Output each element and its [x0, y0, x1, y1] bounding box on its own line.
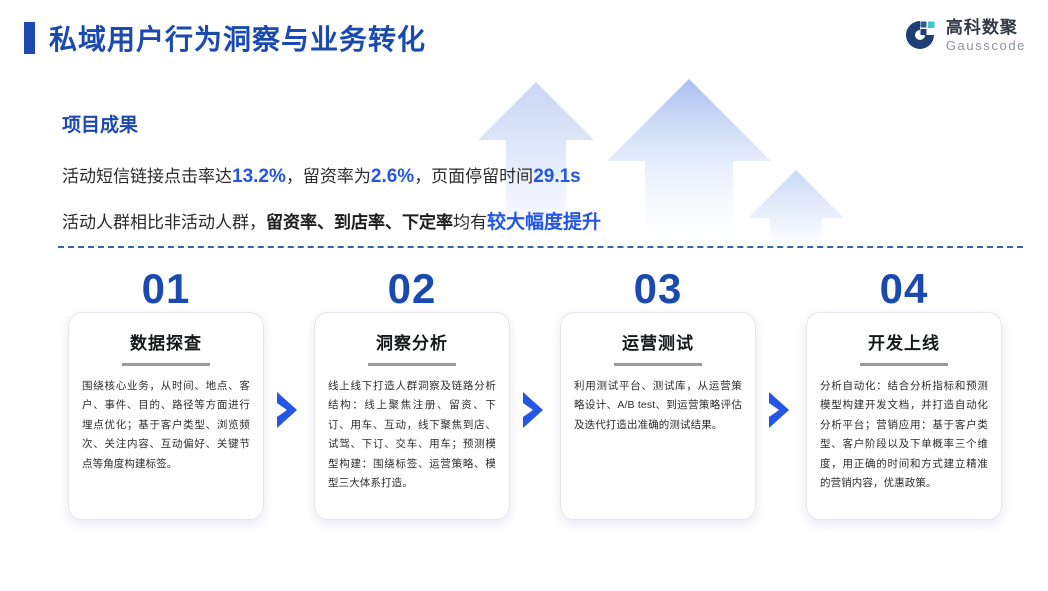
- step-number: 01: [68, 268, 264, 310]
- line1-metric-dwell: 29.1s: [533, 166, 581, 187]
- step-card-body[interactable]: 数据探查 围绕核心业务，从时间、地点、客户、事件、目的、路径等方面进行埋点优化；…: [68, 312, 264, 520]
- logo-text-en: Gausscode: [946, 39, 1026, 52]
- line1-metric-ctr: 13.2%: [232, 166, 286, 187]
- gausscode-logo-mark-icon: [903, 18, 937, 52]
- brand-logo: 高科数聚 Gausscode: [903, 18, 1026, 52]
- step-number: 04: [806, 268, 1002, 310]
- line1-text-2: ，留资率为: [286, 167, 371, 186]
- step-title: 开发上线: [820, 329, 988, 354]
- step-number: 03: [560, 268, 756, 310]
- line2-text-1: 活动人群相比非活动人群，: [62, 213, 266, 232]
- step-title-rule: [614, 363, 702, 366]
- step-card-01[interactable]: 01 数据探查 围绕核心业务，从时间、地点、客户、事件、目的、路径等方面进行埋点…: [68, 312, 264, 520]
- logo-text-cn: 高科数聚: [946, 19, 1026, 36]
- step-title: 运营测试: [574, 329, 742, 354]
- step-card-03[interactable]: 03 运营测试 利用测试平台、测试库，从运营策略设计、A/B test、到运营策…: [560, 312, 756, 520]
- step-title: 数据探查: [82, 329, 250, 354]
- dashed-divider: [58, 246, 1023, 248]
- step-chevron-arrow-2-icon: [520, 390, 546, 430]
- title-accent-bar: [24, 22, 35, 54]
- step-title-rule: [368, 363, 456, 366]
- step-title: 洞察分析: [328, 329, 496, 354]
- step-description: 围绕核心业务，从时间、地点、客户、事件、目的、路径等方面进行埋点优化；基于客户类…: [82, 377, 250, 474]
- step-chevron-arrow-1-icon: [274, 390, 300, 430]
- step-card-02[interactable]: 02 洞察分析 线上线下打造人群洞察及链路分析结构：线上聚焦注册、留资、下订、用…: [314, 312, 510, 520]
- page-title: 私域用户行为洞察与业务转化: [24, 18, 426, 58]
- step-card-body[interactable]: 洞察分析 线上线下打造人群洞察及链路分析结构：线上聚焦注册、留资、下订、用车、互…: [314, 312, 510, 520]
- line1-metric-leadrate: 2.6%: [371, 166, 414, 187]
- page-header: 私域用户行为洞察与业务转化 高科数聚 Gausscode: [0, 0, 1048, 80]
- step-description: 线上线下打造人群洞察及链路分析结构：线上聚焦注册、留资、下订、用车、互动，线下聚…: [328, 377, 496, 494]
- step-chevron-arrow-3-icon: [766, 390, 792, 430]
- page-title-text: 私域用户行为洞察与业务转化: [49, 18, 426, 58]
- line2-highlight: 较大幅度提升: [487, 212, 601, 233]
- results-line-2: 活动人群相比非活动人群，留资率、到店率、下定率均有较大幅度提升: [62, 205, 601, 241]
- process-steps: 01 数据探查 围绕核心业务，从时间、地点、客户、事件、目的、路径等方面进行埋点…: [0, 268, 1048, 528]
- step-description: 分析自动化：结合分析指标和预测模型构建开发文档，并打造自动化分析平台；营销应用：…: [820, 377, 988, 494]
- line2-bold-metrics: 留资率、到店率、下定率: [266, 213, 453, 232]
- step-card-body[interactable]: 开发上线 分析自动化：结合分析指标和预测模型构建开发文档，并打造自动化分析平台；…: [806, 312, 1002, 520]
- step-card-body[interactable]: 运营测试 利用测试平台、测试库，从运营策略设计、A/B test、到运营策略评估…: [560, 312, 756, 520]
- results-heading: 项目成果: [62, 110, 601, 137]
- step-title-rule: [860, 363, 948, 366]
- step-title-rule: [122, 363, 210, 366]
- step-description: 利用测试平台、测试库，从运营策略设计、A/B test、到运营策略评估及迭代打造…: [574, 377, 742, 435]
- line1-text-3: ，页面停留时间: [414, 167, 533, 186]
- project-results: 项目成果 活动短信链接点击率达13.2%，留资率为2.6%，页面停留时间29.1…: [62, 110, 601, 241]
- results-line-1: 活动短信链接点击率达13.2%，留资率为2.6%，页面停留时间29.1s: [62, 159, 601, 195]
- step-card-04[interactable]: 04 开发上线 分析自动化：结合分析指标和预测模型构建开发文档，并打造自动化分析…: [806, 312, 1002, 520]
- line1-text-1: 活动短信链接点击率达: [62, 167, 232, 186]
- step-number: 02: [314, 268, 510, 310]
- line2-text-2: 均有: [453, 213, 487, 232]
